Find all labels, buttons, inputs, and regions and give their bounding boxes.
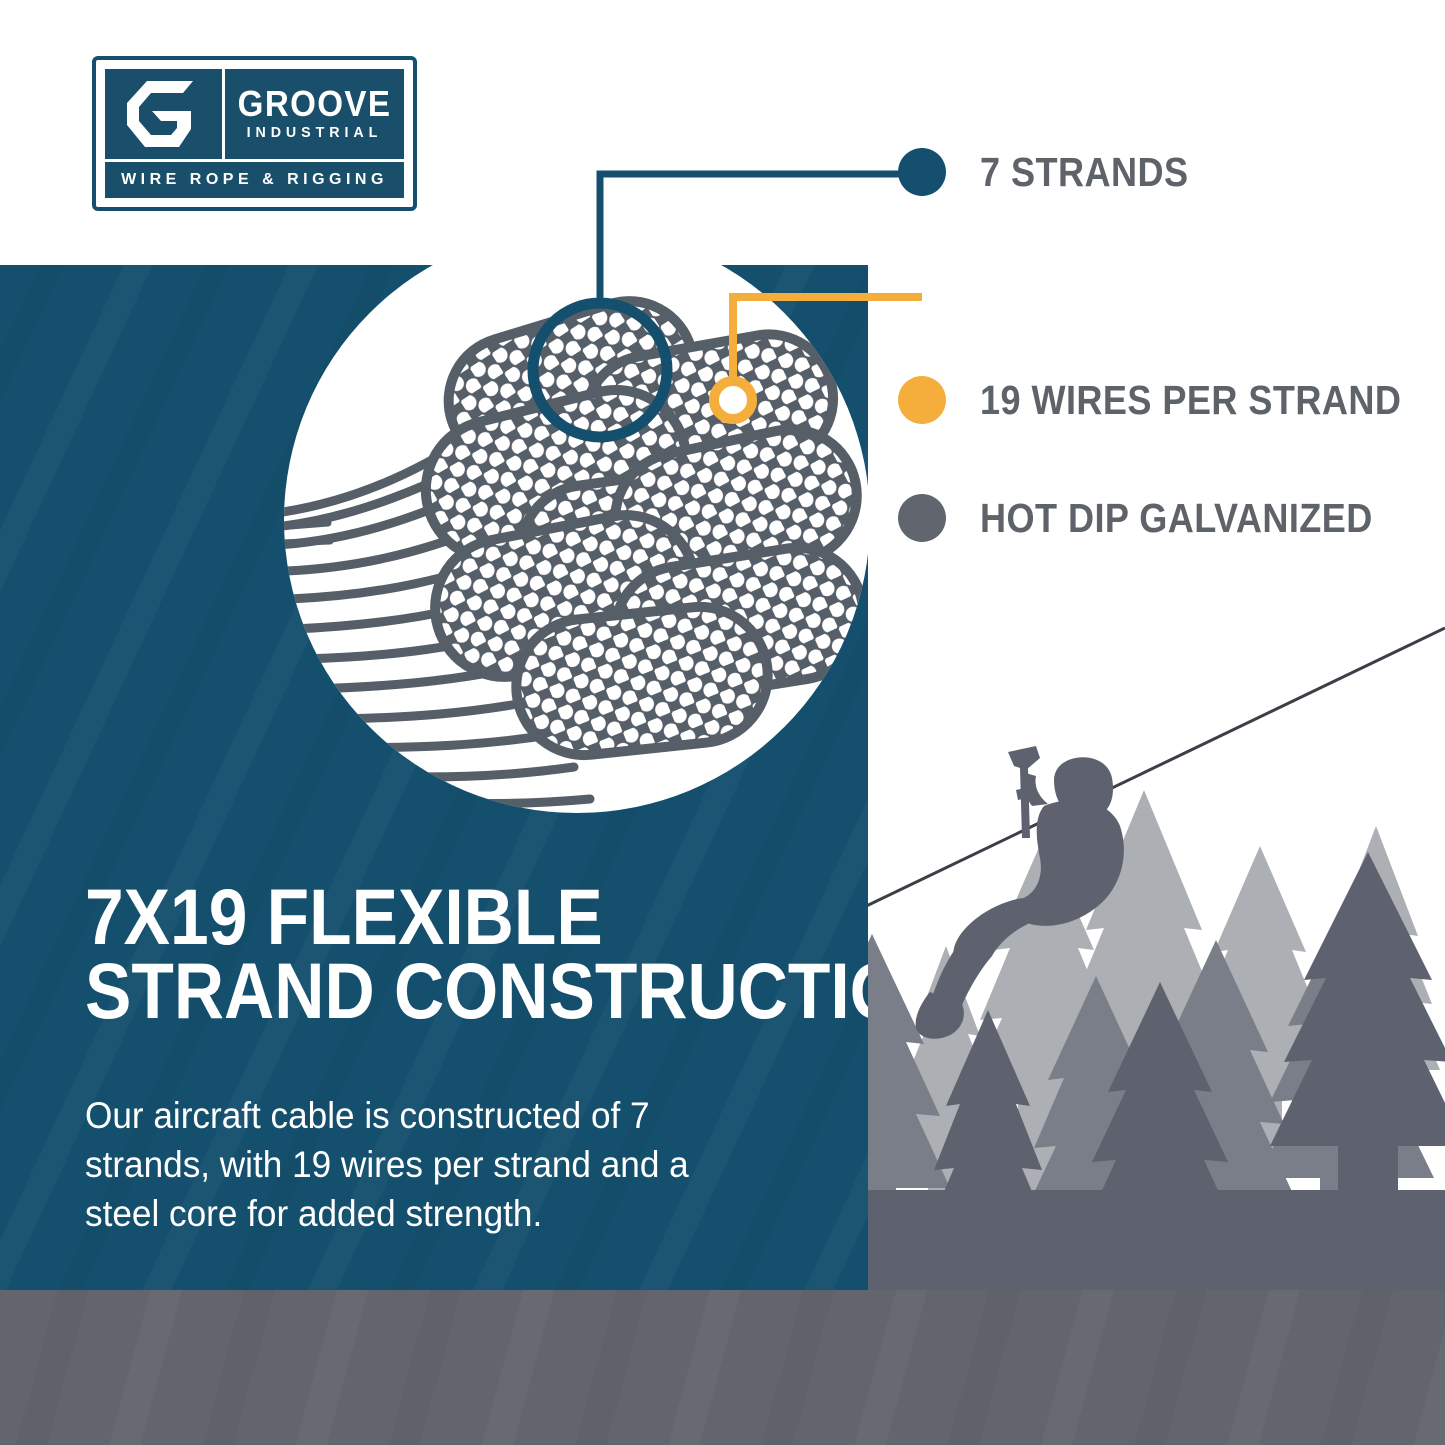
- bullet-dot-icon: [898, 148, 946, 196]
- callout-label: 19 WIRES PER STRAND: [980, 377, 1401, 424]
- page-title: 7X19 FLEXIBLE STRAND CONSTRUCTION: [85, 880, 754, 1029]
- zipline-scene: [868, 600, 1445, 1290]
- body-copy: Our aircraft cable is constructed of 7 s…: [85, 1092, 712, 1238]
- callout-item-strands[interactable]: 7 STRANDS: [898, 148, 1217, 196]
- callout-label: HOT DIP GALVANIZED: [980, 495, 1373, 542]
- logo-tagline-row: WIRE ROPE & RIGGING: [105, 159, 404, 198]
- groove-g-icon: [105, 69, 225, 159]
- logo-inner-frame: GROOVE INDUSTRIAL WIRE ROPE & RIGGING: [102, 66, 407, 201]
- logo-wordmark: GROOVE INDUSTRIAL: [225, 87, 404, 141]
- bullet-dot-icon: [898, 376, 946, 424]
- callout-label: 7 STRANDS: [980, 149, 1188, 196]
- footer-bar: [0, 1290, 1445, 1445]
- bullet-dot-icon: [898, 494, 946, 542]
- headline-line-1: 7X19 FLEXIBLE: [85, 880, 754, 954]
- callout-item-galvanized[interactable]: HOT DIP GALVANIZED: [898, 494, 1426, 542]
- infographic-page: GROOVE INDUSTRIAL WIRE ROPE & RIGGING: [0, 0, 1445, 1445]
- logo-top-row: GROOVE INDUSTRIAL: [105, 69, 404, 159]
- brand-logo[interactable]: GROOVE INDUSTRIAL WIRE ROPE & RIGGING: [92, 56, 417, 211]
- wire-rope-cross-section: [284, 227, 870, 813]
- callout-item-wires[interactable]: 19 WIRES PER STRAND: [898, 376, 1445, 424]
- footer-stripe-texture: [0, 1290, 1445, 1445]
- brand-tagline: WIRE ROPE & RIGGING: [121, 171, 388, 189]
- headline-line-2: STRAND CONSTRUCTION: [85, 954, 754, 1028]
- brand-name: GROOVE: [237, 87, 391, 120]
- brand-sub: INDUSTRIAL: [246, 124, 382, 141]
